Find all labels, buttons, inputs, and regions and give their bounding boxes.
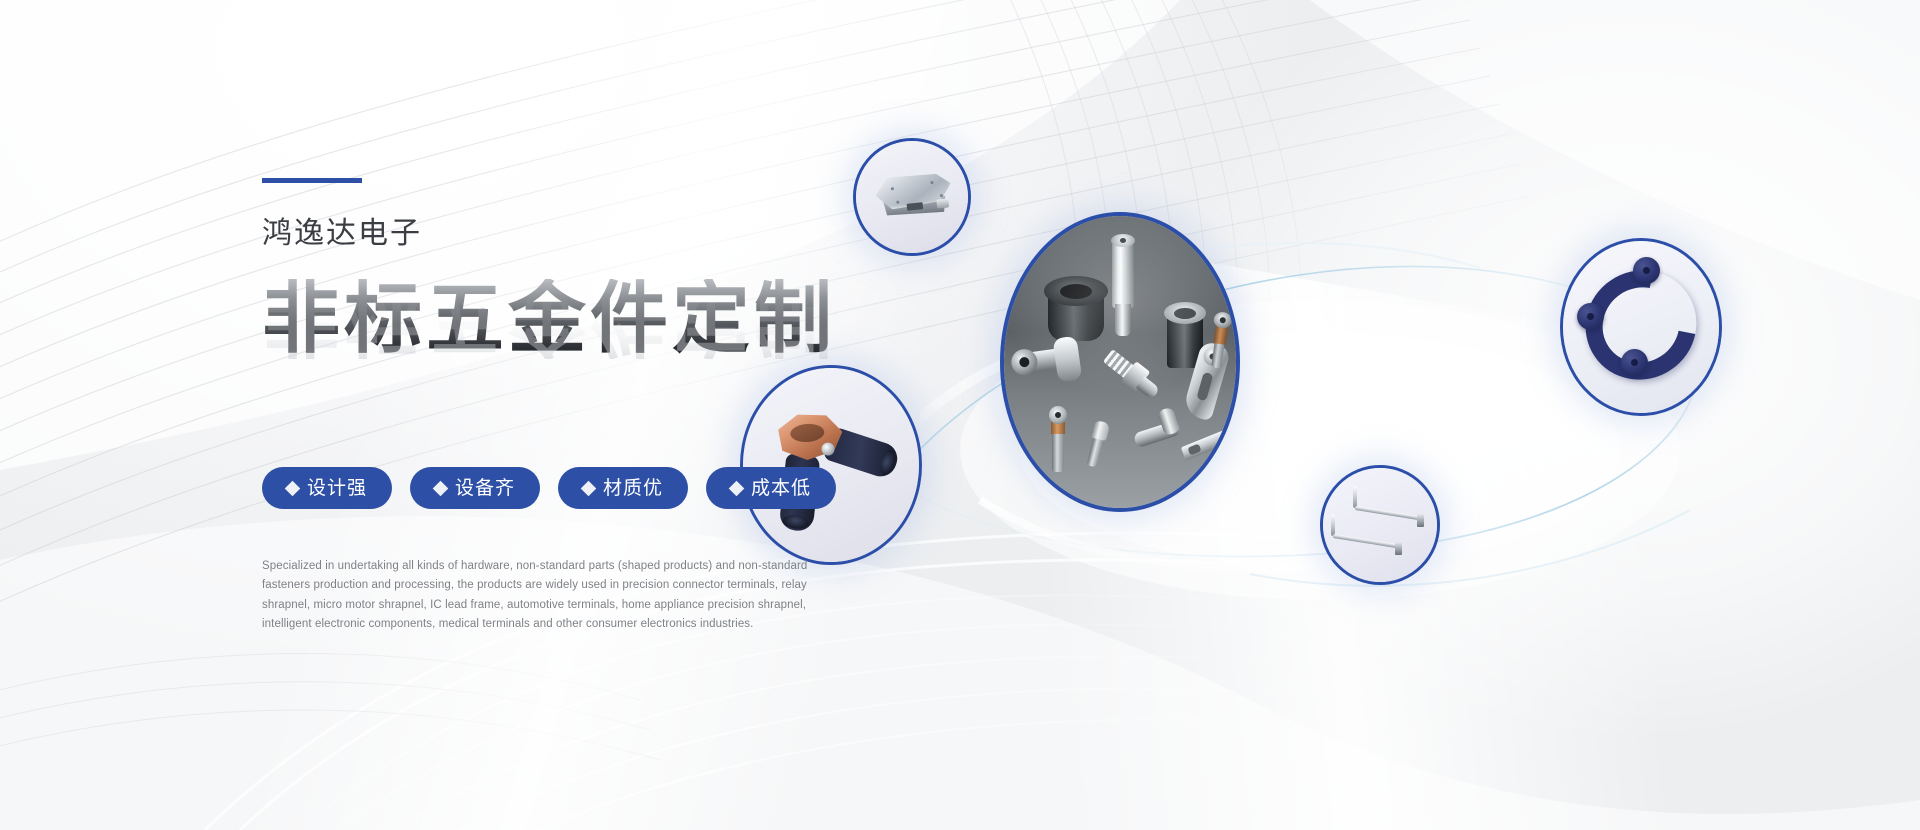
bullet-terminal-part: [1081, 419, 1113, 469]
machined-parts-photo: [1004, 216, 1236, 508]
retaining-ring-lug: [1577, 303, 1604, 330]
feature-pill-cost[interactable]: 成本低: [706, 467, 836, 509]
terminal-pins-photo: [1323, 468, 1437, 582]
copper-band-pin-part: [1048, 406, 1068, 472]
product-node-machined-parts[interactable]: [1000, 212, 1240, 512]
company-description: Specialized in undertaking all kinds of …: [262, 557, 818, 634]
hero-banner: 鸿逸达电子 非标五金件定制 非标五金件定制 设计强 设备齐 材质优 成本低: [0, 0, 1920, 830]
retaining-ring-photo: [1563, 241, 1719, 413]
black-bushing-part: [1044, 276, 1108, 348]
headline-block: 非标五金件定制 非标五金件定制: [262, 279, 922, 429]
copper-shank-screw-part: [1206, 311, 1234, 369]
headline-reflection: 非标五金件定制: [262, 281, 922, 359]
accent-rule: [262, 178, 362, 183]
feature-pill-label: 设备齐: [455, 479, 515, 498]
bent-terminal-pin: [1331, 514, 1409, 560]
hero-content: 鸿逸达电子 非标五金件定制 非标五金件定制 设计强 设备齐 材质优 成本低: [262, 178, 922, 634]
product-showcase-cluster: [920, 150, 1800, 650]
retaining-ring-lug: [1621, 349, 1648, 376]
stamped-blade-part: [1179, 422, 1240, 468]
diamond-icon: [285, 480, 301, 496]
socket-part: [1162, 302, 1208, 374]
diamond-icon: [433, 480, 449, 496]
feature-pill-list: 设计强 设备齐 材质优 成本低: [262, 467, 922, 509]
feature-pill-equipment[interactable]: 设备齐: [410, 467, 540, 509]
elbow-fitting-part: [1129, 403, 1196, 462]
product-node-retaining-ring[interactable]: [1560, 238, 1722, 416]
feature-pill-material[interactable]: 材质优: [558, 467, 688, 509]
cylindrical-pin-part: [1108, 234, 1138, 338]
flanged-connector-part: [1008, 331, 1085, 398]
machined-lever-part: [1169, 337, 1240, 436]
diamond-icon: [581, 480, 597, 496]
brand-name: 鸿逸达电子: [262, 219, 922, 249]
diamond-icon: [729, 480, 745, 496]
feature-pill-label: 成本低: [751, 479, 811, 498]
feature-pill-label: 材质优: [603, 479, 663, 498]
threaded-plug-part: [1094, 341, 1167, 411]
feature-pill-design[interactable]: 设计强: [262, 467, 392, 509]
product-node-terminal-pins[interactable]: [1320, 465, 1440, 585]
retaining-ring-lug: [1633, 257, 1660, 284]
feature-pill-label: 设计强: [307, 479, 367, 498]
